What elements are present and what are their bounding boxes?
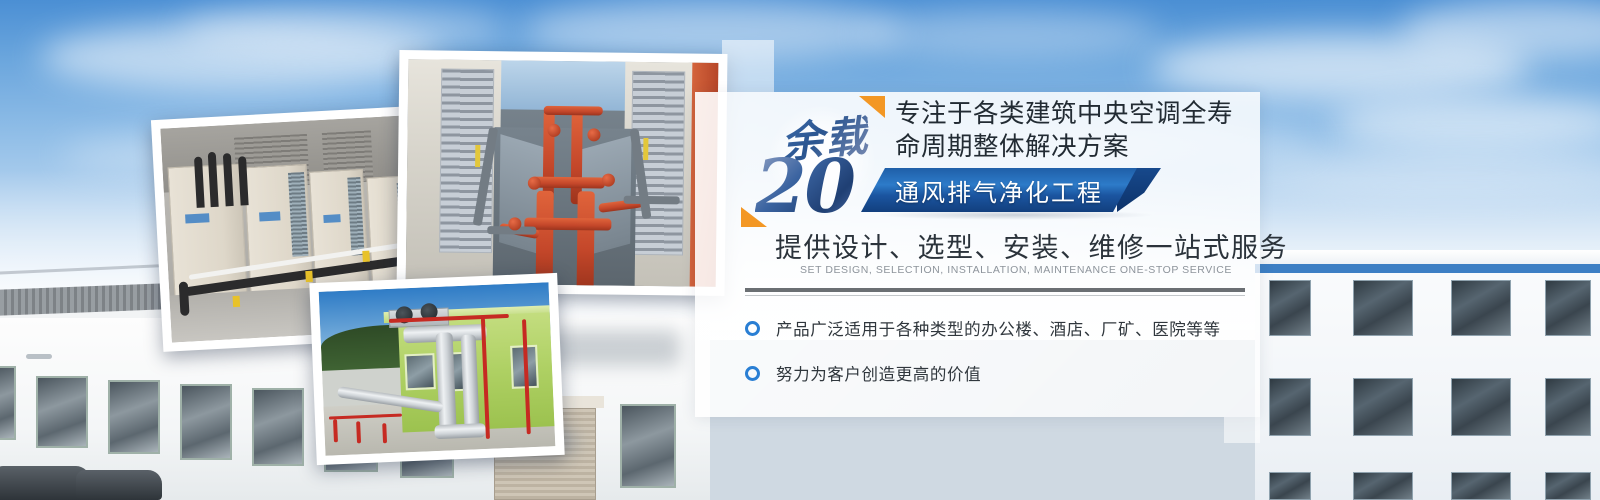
red-pipe-cross: [531, 177, 606, 189]
building-window: [1545, 472, 1591, 500]
warehouse-window: [36, 376, 88, 448]
warehouse-window: [252, 388, 304, 466]
content-panel: 余载 20 专注于各类建筑中央空调全寿命周期整体解决方案 通风排气净化工程 提供…: [695, 92, 1260, 417]
building-window: [1353, 472, 1413, 500]
building-window: [1545, 378, 1591, 436]
corner-arrow-top-right-icon: [859, 96, 885, 118]
warning-label: [643, 138, 648, 160]
list-item: 产品广泛适用于各种类型的办公楼、酒店、厂矿、医院等等: [745, 316, 1250, 340]
divider-thick-line: [745, 288, 1245, 292]
gate-valve-handwheel: [547, 124, 560, 137]
parked-car: [76, 470, 162, 500]
unit-badge: [323, 214, 341, 223]
divider: [745, 288, 1245, 296]
bullet-circle-icon: [745, 321, 760, 336]
photo-content: [319, 282, 556, 455]
red-pipe-cross: [524, 217, 611, 230]
corner-arrow-bottom-left-icon: [741, 207, 767, 227]
service-ribbon: 通风排气净化工程: [861, 168, 1161, 212]
building-window: [1353, 280, 1413, 336]
photo-content: [406, 59, 719, 287]
pipe-drop: [178, 282, 189, 317]
warehouse-window: [620, 404, 676, 488]
sky-gap: [488, 60, 637, 111]
building-window: [1269, 280, 1311, 336]
building-window: [1451, 378, 1511, 436]
photo-rooftop-duct-installation: [309, 273, 564, 465]
pipe-clamp: [362, 250, 370, 261]
building-window: [1545, 280, 1591, 336]
list-item: 努力为客户创造更高的价值: [745, 361, 1250, 385]
wall-lamp: [26, 354, 52, 359]
red-pipe-main: [576, 191, 594, 287]
building-blue-stripe: [1255, 264, 1600, 273]
cloud: [1330, 96, 1600, 150]
cloud: [860, 10, 1160, 58]
warning-label: [475, 145, 480, 167]
building-window: [1451, 472, 1511, 500]
insulated-duct-elbow: [435, 423, 486, 439]
divider-thin-line: [745, 295, 1245, 296]
bullet-list: 产品广泛适用于各种类型的办公楼、酒店、厂矿、医院等等 努力为客户创造更高的价值: [745, 316, 1250, 406]
building-window: [1451, 280, 1511, 336]
years-number: 20: [755, 152, 854, 222]
panel-corner-notch: [1224, 417, 1260, 443]
cloud: [180, 4, 510, 54]
gate-valve-handwheel: [587, 128, 600, 141]
factory-building-right: [1255, 250, 1600, 500]
banner-stage: 余载 20 专注于各类建筑中央空调全寿命周期整体解决方案 通风排气净化工程 提供…: [0, 0, 1600, 500]
ac-outdoor-unit: [167, 163, 247, 299]
building-roof-cap: [1255, 250, 1600, 264]
pipe-support: [382, 424, 387, 444]
rooftop-scene: [319, 282, 556, 455]
pipe-clamp: [233, 296, 241, 307]
red-pipe-cross: [544, 106, 603, 116]
grey-pipe: [624, 196, 680, 205]
pipe-clamp: [305, 271, 313, 282]
building-window: [1269, 378, 1311, 436]
ribbon-label: 通风排气净化工程: [861, 168, 1137, 212]
unit-badge: [185, 213, 210, 223]
photo-red-chilled-water-piping: [397, 50, 728, 296]
subtitle-chinese: 提供设计、选型、安装、维修一站式服务: [775, 226, 1245, 265]
subtitle-english: SET DESIGN, SELECTION, INSTALLATION, MAI…: [800, 264, 1220, 276]
headline: 专注于各类建筑中央空调全寿命周期整体解决方案: [895, 98, 1245, 164]
panel-accent-square: [722, 40, 774, 92]
building-window: [1353, 378, 1413, 436]
unit-grille: [288, 172, 308, 256]
building-window: [404, 353, 435, 390]
bullet-circle-icon: [745, 366, 760, 381]
unit-grille: [347, 177, 365, 255]
warehouse-window: [0, 366, 16, 440]
warehouse-window: [108, 380, 160, 454]
piping-scene: [406, 59, 719, 287]
warehouse-window: [180, 384, 232, 460]
building-window: [1269, 472, 1311, 500]
list-item-label: 产品广泛适用于各种类型的办公楼、酒店、厂矿、医院等等: [776, 316, 1221, 340]
list-item-label: 努力为客户创造更高的价值: [776, 361, 981, 385]
unit-badge: [259, 212, 280, 222]
